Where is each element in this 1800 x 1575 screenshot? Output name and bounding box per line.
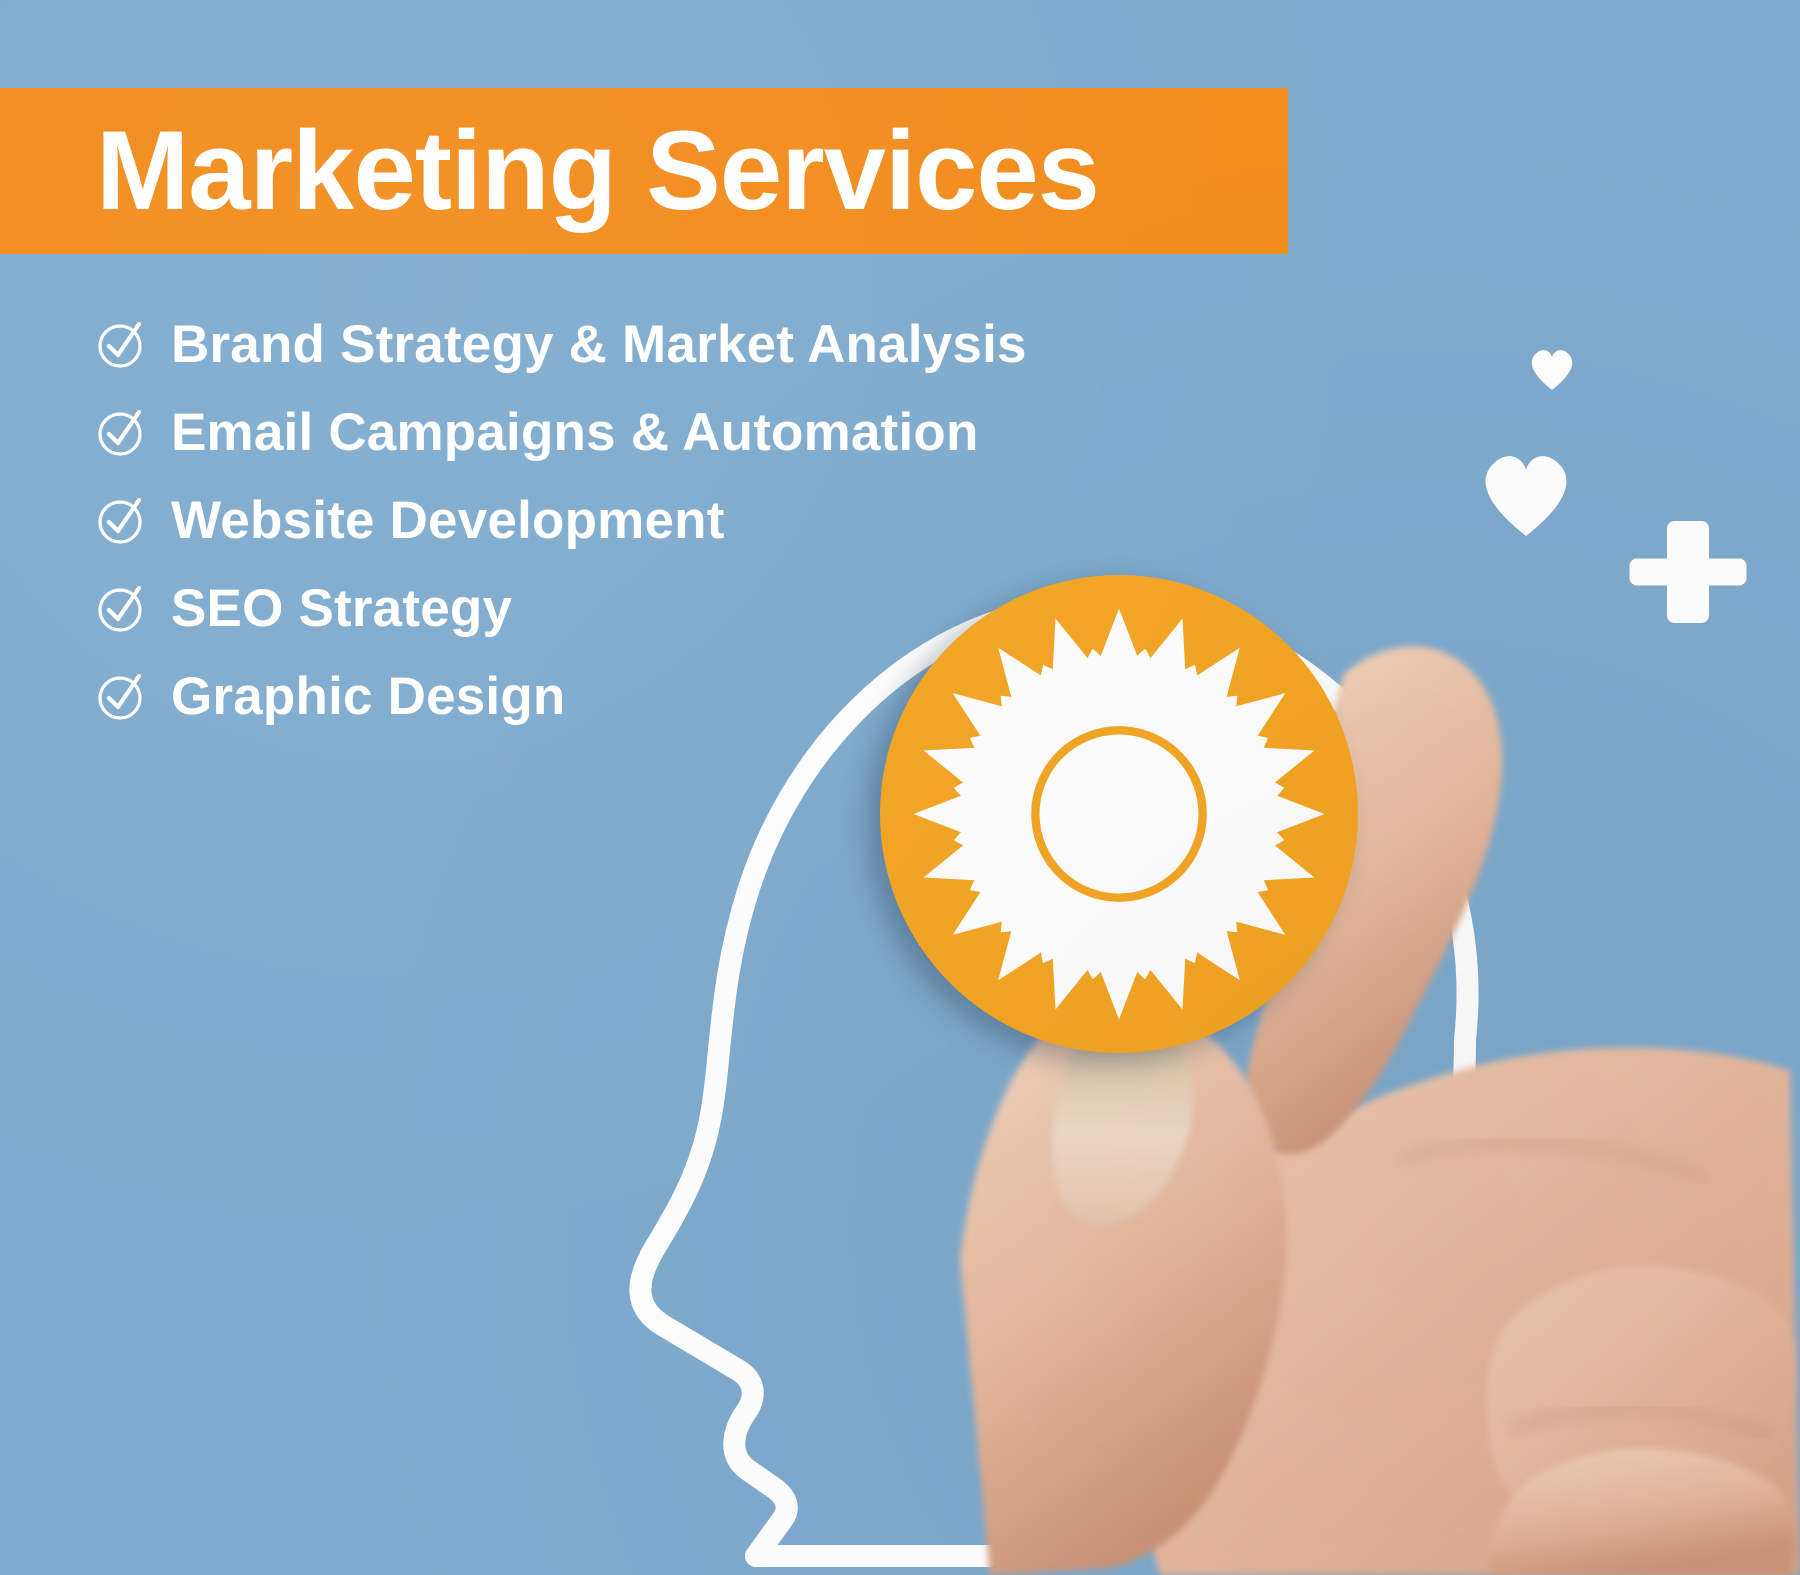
list-item-label: Graphic Design bbox=[171, 670, 566, 723]
title-banner: Marketing Services bbox=[0, 88, 1288, 254]
heart-icon bbox=[1478, 448, 1574, 540]
plus-icon bbox=[1628, 512, 1748, 632]
check-circle-icon bbox=[95, 406, 147, 458]
list-item[interactable]: Website Development bbox=[95, 476, 1145, 564]
list-item[interactable]: Graphic Design bbox=[95, 652, 1145, 740]
check-circle-icon bbox=[95, 318, 147, 370]
list-item-label: Brand Strategy & Market Analysis bbox=[171, 318, 1027, 371]
heart-icon bbox=[1528, 345, 1576, 393]
list-item-label: SEO Strategy bbox=[171, 582, 512, 635]
list-item[interactable]: Brand Strategy & Market Analysis bbox=[95, 300, 1145, 388]
page-title: Marketing Services bbox=[0, 115, 1099, 227]
list-item-label: Email Campaigns & Automation bbox=[171, 406, 979, 459]
list-item[interactable]: SEO Strategy bbox=[95, 564, 1145, 652]
check-circle-icon bbox=[95, 582, 147, 634]
check-circle-icon bbox=[95, 494, 147, 546]
list-item-label: Website Development bbox=[171, 494, 725, 547]
services-checklist: Brand Strategy & Market Analysis Email C… bbox=[95, 300, 1145, 740]
list-item[interactable]: Email Campaigns & Automation bbox=[95, 388, 1145, 476]
check-circle-icon bbox=[95, 670, 147, 722]
marketing-services-poster: Marketing Services Brand Strategy & Mark… bbox=[0, 0, 1800, 1575]
